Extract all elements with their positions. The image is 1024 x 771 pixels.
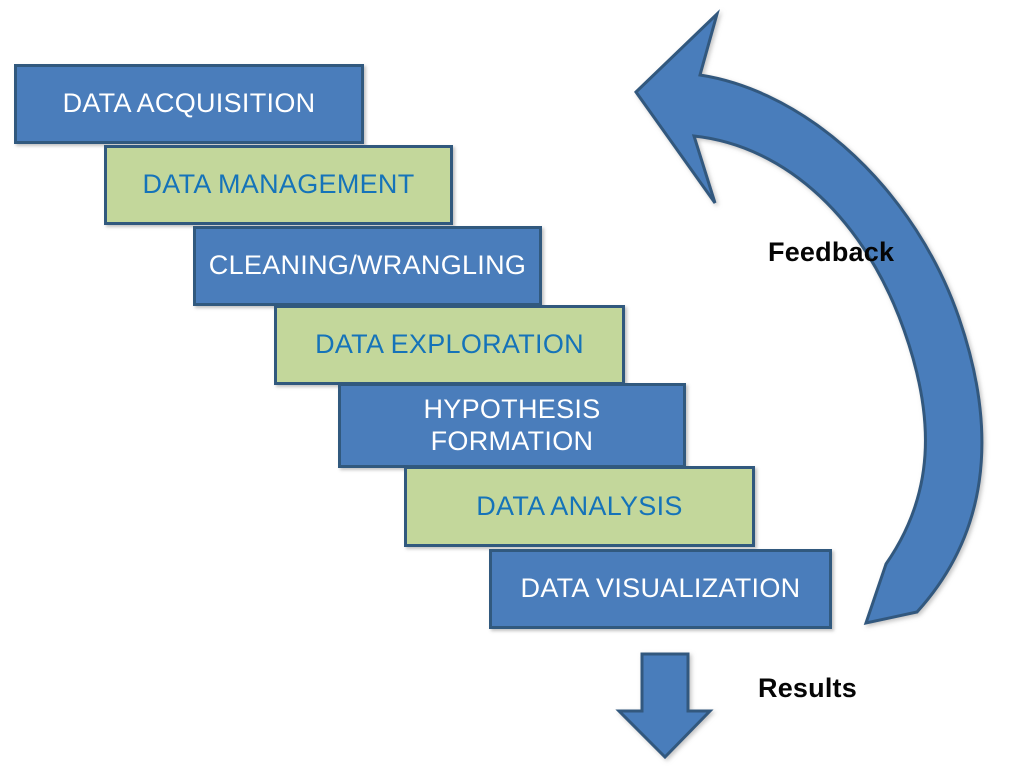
feedback-annotation: Feedback bbox=[768, 237, 894, 268]
stage-box-data-management[interactable]: DATA MANAGEMENT bbox=[104, 145, 453, 225]
stage-label: DATA EXPLORATION bbox=[303, 329, 596, 361]
stage-box-data-visualization[interactable]: DATA VISUALIZATION bbox=[489, 549, 832, 629]
stage-box-data-exploration[interactable]: DATA EXPLORATION bbox=[274, 305, 625, 385]
stage-label: DATA ACQUISITION bbox=[51, 88, 328, 120]
stage-label: DATA MANAGEMENT bbox=[130, 169, 426, 201]
diagram-canvas: DATA ACQUISITION DATA MANAGEMENT CLEANIN… bbox=[0, 0, 1024, 771]
stage-box-cleaning-wrangling[interactable]: CLEANING/WRANGLING bbox=[193, 226, 542, 306]
stage-box-hypothesis-formation[interactable]: HYPOTHESIS FORMATION bbox=[338, 383, 686, 468]
results-annotation: Results bbox=[758, 673, 857, 704]
stage-label: CLEANING/WRANGLING bbox=[197, 250, 538, 282]
stage-label: DATA ANALYSIS bbox=[464, 491, 694, 523]
stage-box-data-analysis[interactable]: DATA ANALYSIS bbox=[404, 466, 755, 547]
stage-box-data-acquisition[interactable]: DATA ACQUISITION bbox=[14, 64, 364, 144]
stage-label: HYPOTHESIS FORMATION bbox=[411, 394, 612, 458]
stage-label: DATA VISUALIZATION bbox=[509, 573, 813, 605]
